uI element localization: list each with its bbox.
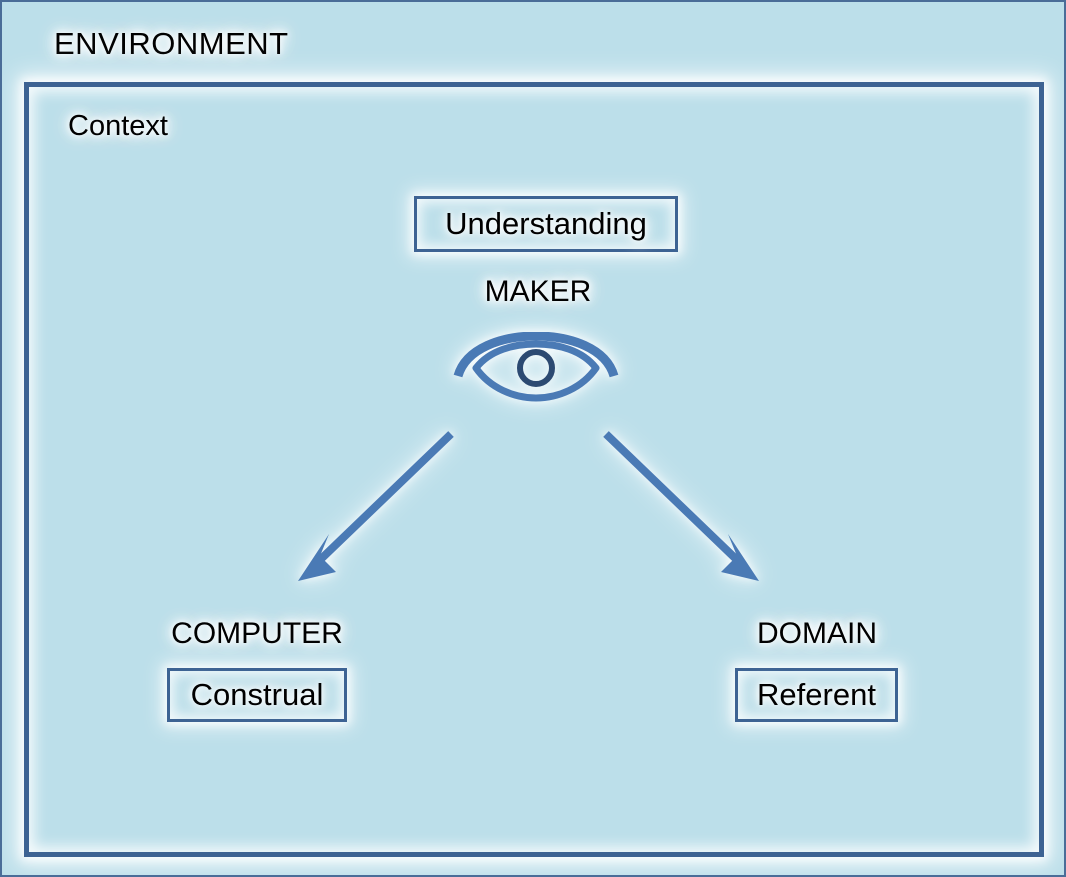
construal-box-label: Construal (191, 677, 324, 713)
diagram-canvas: ENVIRONMENT Context Understanding MAKER (0, 0, 1066, 877)
computer-label: COMPUTER (157, 617, 357, 651)
domain-label: DOMAIN (717, 617, 917, 651)
maker-label: MAKER (438, 275, 638, 309)
construal-box: Construal (167, 668, 347, 722)
context-label: Context (68, 110, 168, 143)
understanding-box: Understanding (414, 196, 678, 252)
understanding-box-label: Understanding (445, 206, 647, 242)
environment-label: ENVIRONMENT (54, 26, 289, 62)
referent-box-label: Referent (757, 677, 876, 713)
eye-icon (450, 332, 622, 408)
referent-box: Referent (735, 668, 898, 722)
